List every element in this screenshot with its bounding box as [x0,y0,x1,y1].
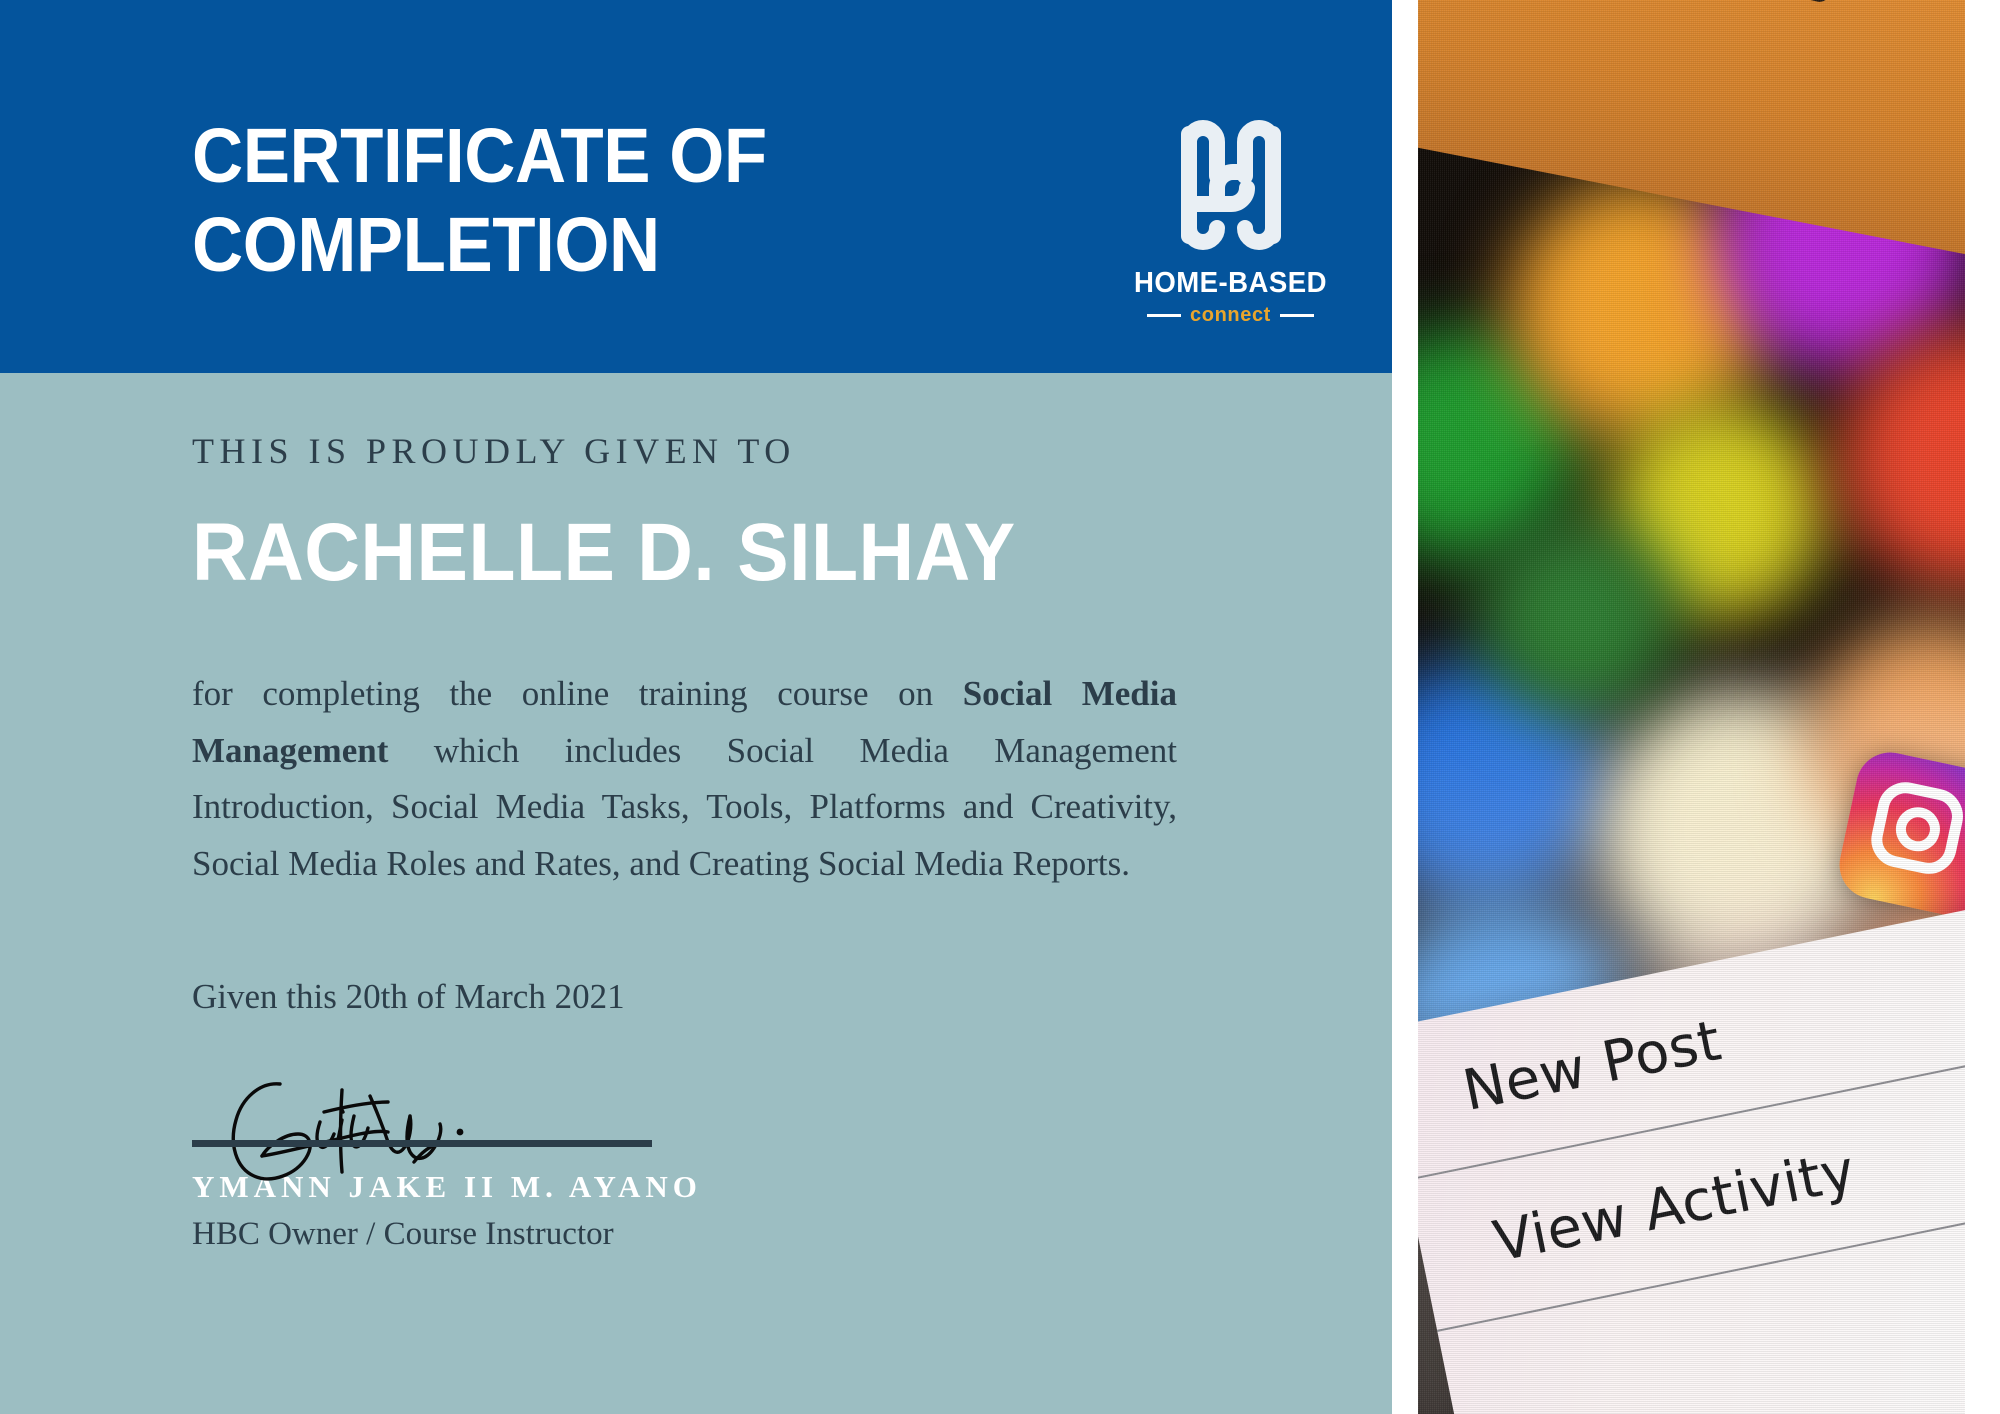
tagline-dash-left [1147,314,1181,317]
signature-rule [192,1140,652,1147]
signature-block: YMANN JAKE II M. AYANO HBC Owner / Cours… [192,1140,832,1251]
bokeh-circle [1478,520,1678,720]
certificate-header-band: CERTIFICATE OF COMPLETION [0,0,1392,373]
signer-name: YMANN JAKE II M. AYANO [192,1171,832,1202]
tagline-dash-right [1280,314,1314,317]
photo-inner: New Post View Activity [1418,0,1965,1414]
certificate-title-block: CERTIFICATE OF COMPLETION [192,118,972,284]
certificate-document: CERTIFICATE OF COMPLETION [0,0,2000,1414]
brand-wordmark: HOME-BASED [1124,269,1338,298]
page-title-line-2: COMPLETION [192,207,910,284]
signer-role: HBC Owner / Course Instructor [192,1218,832,1251]
recipient-name: RACHELLE D. SILHAY [192,512,1118,594]
citation-lead: for completing the online training cours… [192,674,963,713]
brand-logo: HOME-BASED connect [1118,108,1343,325]
preamble-text: THIS IS PROUDLY GIVEN TO [192,430,1177,472]
certificate-body: THIS IS PROUDLY GIVEN TO RACHELLE D. SIL… [192,430,1177,1014]
menu-item-label: New Post [1458,1008,1727,1124]
citation-paragraph: for completing the online training cours… [192,666,1177,893]
brand-tagline-row: connect [1118,305,1343,325]
earpiece-speaker-icon [1565,0,1833,4]
home-based-h-monogram-icon [1161,108,1301,263]
page-title-line-1: CERTIFICATE OF [192,118,910,195]
issue-date: Given this 20th of March 2021 [192,979,1177,1014]
brand-tagline: connect [1190,305,1271,325]
certificate-left-panel: CERTIFICATE OF COMPLETION [0,0,1392,1414]
decorative-photo: New Post View Activity [1418,0,1965,1414]
